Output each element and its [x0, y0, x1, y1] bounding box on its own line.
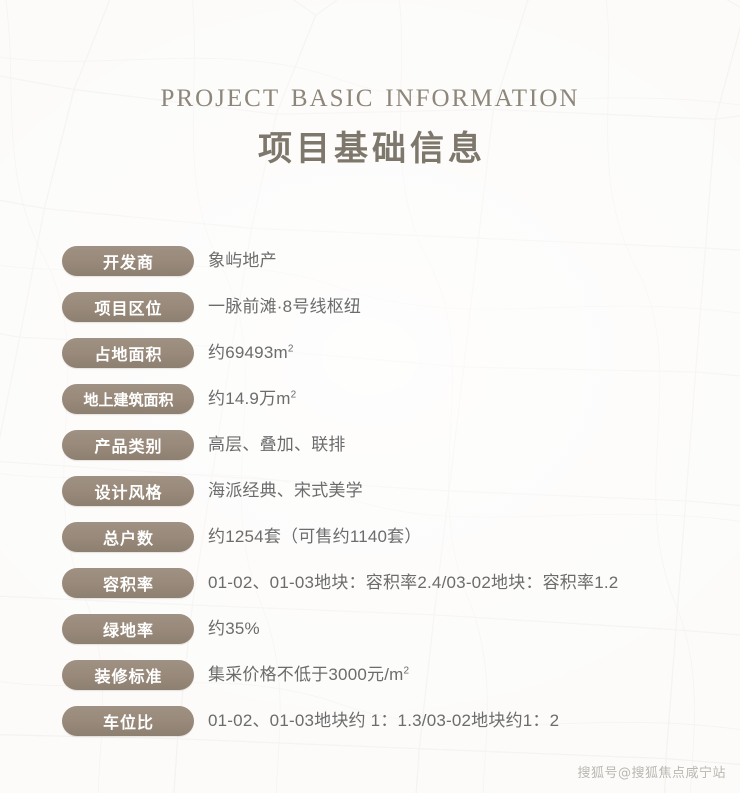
spec-value-text: 高层、叠加、联排 [208, 435, 346, 454]
spec-value-superscript: 2 [291, 389, 297, 400]
table-row: 装修标准 集采价格不低于3000元/m2 [0, 660, 740, 690]
table-row: 车位比 01-02、01-03地块约 1：1.3/03-02地块约1：2 [0, 706, 740, 736]
spec-value-text: 约35% [208, 619, 260, 638]
spec-label-pill: 车位比 [62, 706, 194, 736]
spec-label-pill: 项目区位 [62, 292, 194, 322]
table-row: 绿地率 约35% [0, 614, 740, 644]
table-row: 项目区位 一脉前滩·8号线枢纽 [0, 292, 740, 322]
page-title-english: Project Basic Information [0, 74, 740, 116]
spec-value-text: 象屿地产 [208, 251, 277, 270]
spec-value-text: 约69493m [208, 343, 288, 362]
spec-value: 约35% [208, 614, 260, 644]
spec-value: 海派经典、宋式美学 [208, 476, 363, 506]
table-row: 总户数 约1254套（可售约1140套） [0, 522, 740, 552]
source-watermark: 搜狐号@搜狐焦点咸宁站 [577, 762, 726, 781]
spec-value: 约1254套（可售约1140套） [208, 522, 422, 552]
spec-value: 约69493m2 [208, 338, 294, 368]
spec-label-pill: 绿地率 [62, 614, 194, 644]
table-row: 占地面积 约69493m2 [0, 338, 740, 368]
spec-value: 一脉前滩·8号线枢纽 [208, 292, 361, 322]
spec-value-text: 约1254套（可售约1140套） [208, 527, 422, 546]
spec-label-pill: 容积率 [62, 568, 194, 598]
spec-value: 高层、叠加、联排 [208, 430, 346, 460]
spec-value: 象屿地产 [208, 246, 277, 276]
project-spec-table: 开发商 象屿地产 项目区位 一脉前滩·8号线枢纽 占地面积 约69493m2 地… [0, 246, 740, 752]
page-heading: Project Basic Information 项目基础信息 [0, 74, 740, 172]
spec-value-text: 约14.9万m [208, 389, 291, 408]
table-row: 开发商 象屿地产 [0, 246, 740, 276]
table-row: 设计风格 海派经典、宋式美学 [0, 476, 740, 506]
spec-value: 集采价格不低于3000元/m2 [208, 660, 409, 690]
table-row: 地上建筑面积 约14.9万m2 [0, 384, 740, 414]
spec-value-superscript: 2 [288, 343, 294, 354]
spec-value: 约14.9万m2 [208, 384, 296, 414]
spec-value-text: 一脉前滩·8号线枢纽 [208, 297, 361, 316]
spec-value-superscript: 2 [404, 665, 410, 676]
spec-label-pill: 占地面积 [62, 338, 194, 368]
spec-value-text: 01-02、01-03地块约 1：1.3/03-02地块约1：2 [208, 711, 559, 730]
spec-label-pill: 装修标准 [62, 660, 194, 690]
page-title-chinese: 项目基础信息 [0, 126, 740, 172]
spec-label-pill: 总户数 [62, 522, 194, 552]
spec-label-pill: 地上建筑面积 [62, 384, 194, 414]
spec-label-pill: 开发商 [62, 246, 194, 276]
spec-value-text: 海派经典、宋式美学 [208, 481, 363, 500]
table-row: 产品类别 高层、叠加、联排 [0, 430, 740, 460]
page-content: Project Basic Information 项目基础信息 开发商 象屿地… [0, 0, 740, 793]
spec-value: 01-02、01-03地块约 1：1.3/03-02地块约1：2 [208, 706, 559, 736]
spec-label-pill: 设计风格 [62, 476, 194, 506]
spec-label-pill: 产品类别 [62, 430, 194, 460]
spec-value: 01-02、01-03地块：容积率2.4/03-02地块：容积率1.2 [208, 568, 618, 598]
spec-value-text: 01-02、01-03地块：容积率2.4/03-02地块：容积率1.2 [208, 573, 618, 592]
table-row: 容积率 01-02、01-03地块：容积率2.4/03-02地块：容积率1.2 [0, 568, 740, 598]
spec-value-text: 集采价格不低于3000元/m [208, 665, 404, 684]
